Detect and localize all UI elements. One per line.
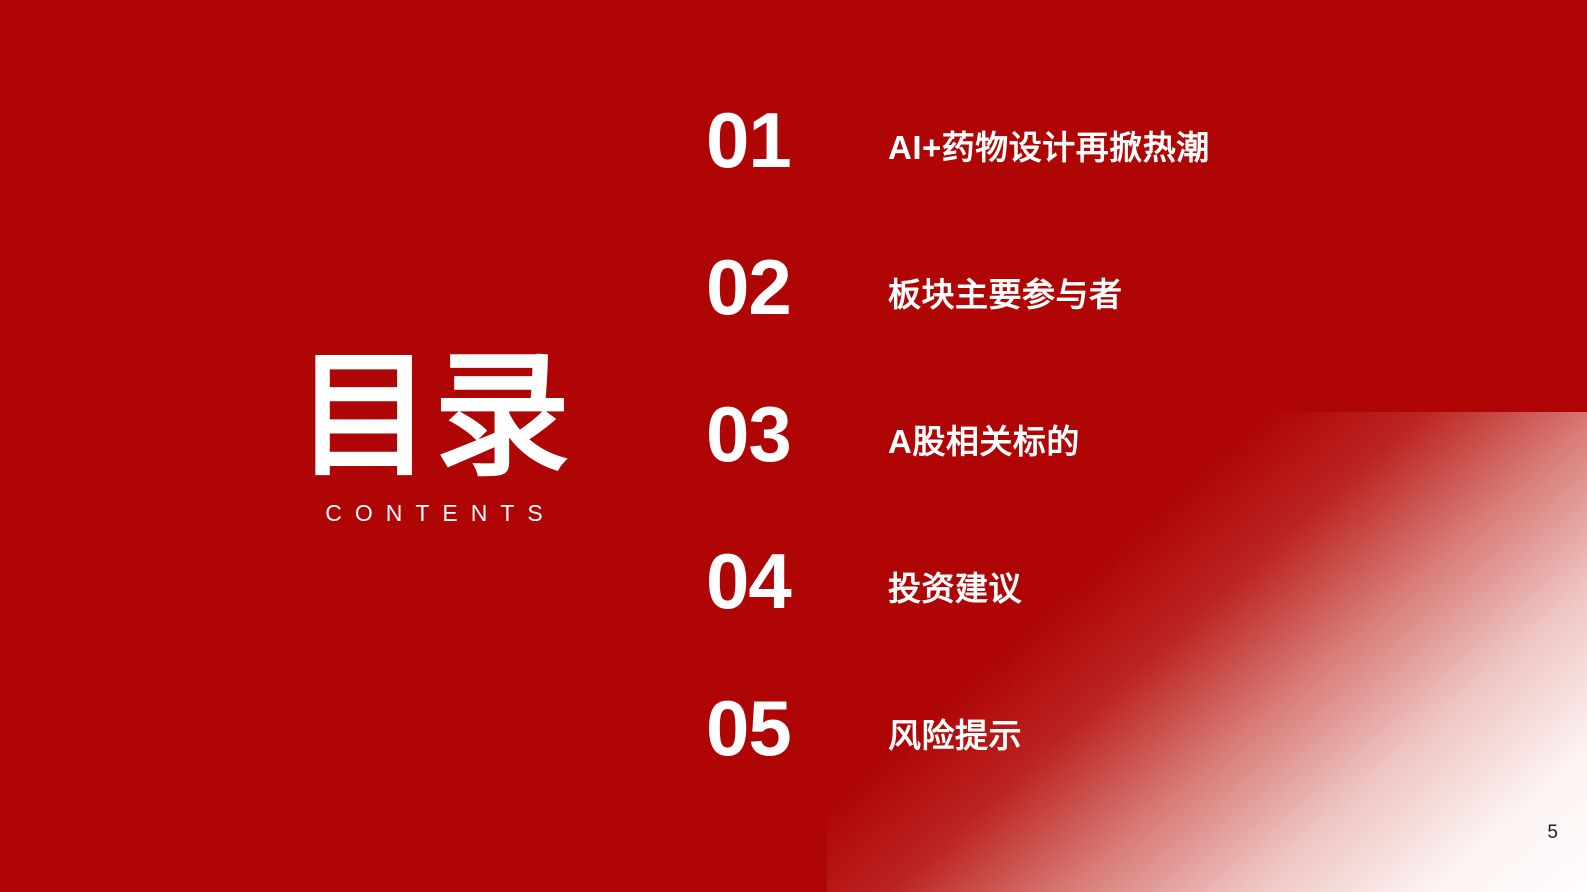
page-number: 5 [1547,822,1558,844]
toc-label: 投资建议 [888,567,1022,611]
toc-item-03[interactable]: 03 A股相关标的 [706,390,1506,537]
toc-item-02[interactable]: 02 板块主要参与者 [706,243,1506,390]
page-subtitle: CONTENTS [296,500,572,527]
toc-item-05[interactable]: 05 风险提示 [706,684,1506,831]
page-title: 目录 [296,348,572,484]
toc-number: 01 [706,96,791,184]
toc-number: 03 [706,390,791,478]
toc-number: 02 [706,243,791,331]
presentation-slide: 目录 CONTENTS 01 AI+药物设计再掀热潮 02 板块主要参与者 03… [0,0,1587,892]
toc-item-04[interactable]: 04 投资建议 [706,537,1506,684]
toc-label: AI+药物设计再掀热潮 [888,126,1210,170]
title-block: 目录 CONTENTS [296,348,572,527]
toc-number: 04 [706,537,791,625]
table-of-contents: 01 AI+药物设计再掀热潮 02 板块主要参与者 03 A股相关标的 04 投… [706,96,1506,831]
toc-number: 05 [706,684,791,772]
toc-label: 风险提示 [888,714,1022,758]
toc-label: A股相关标的 [888,420,1080,464]
toc-label: 板块主要参与者 [888,273,1123,317]
toc-item-01[interactable]: 01 AI+药物设计再掀热潮 [706,96,1506,243]
